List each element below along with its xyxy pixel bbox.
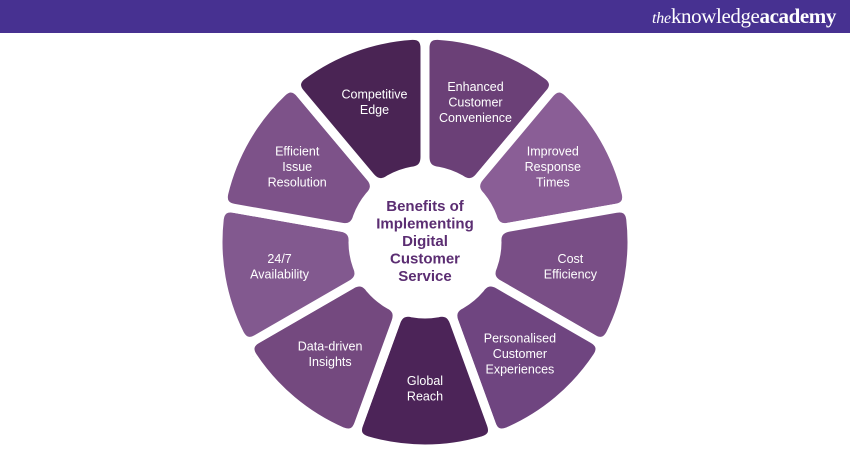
segment-label-personalised-customer-experiences: PersonalisedCustomerExperiences xyxy=(484,332,556,377)
logo-text-the: the xyxy=(652,10,671,27)
theknowledgeacademy-logo: theknowledgeacademy xyxy=(652,6,836,27)
page-root: theknowledgeacademy EnhancedCustomerConv… xyxy=(0,0,850,450)
logo-text-academy: academy xyxy=(759,4,836,28)
benefits-wheel-diagram: EnhancedCustomerConvenienceImprovedRespo… xyxy=(0,33,850,450)
segment-label-enhanced-customer-convenience: EnhancedCustomerConvenience xyxy=(439,80,512,125)
header-bar: theknowledgeacademy xyxy=(0,0,850,33)
wheel-svg: EnhancedCustomerConvenienceImprovedRespo… xyxy=(0,33,850,450)
logo-text-knowledge: knowledge xyxy=(671,4,760,28)
segment-label-global-reach: GlobalReach xyxy=(407,374,443,404)
